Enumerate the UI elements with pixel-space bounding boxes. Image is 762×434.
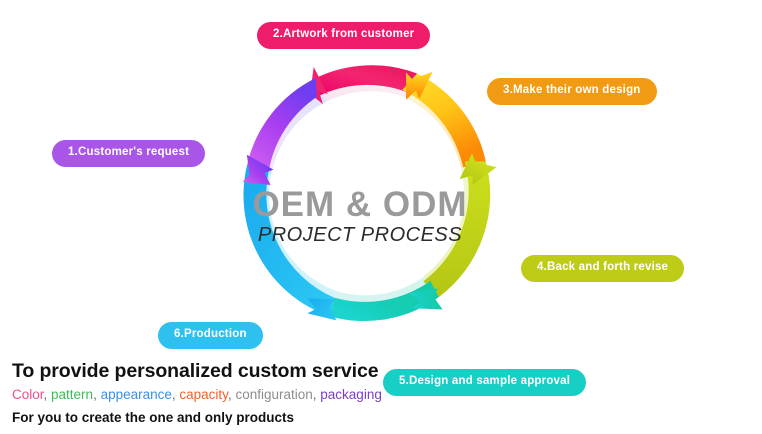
step-label-6[interactable]: 6.Production bbox=[158, 322, 263, 349]
ring-segment-6[interactable] bbox=[243, 165, 339, 326]
feature-word: pattern bbox=[51, 387, 93, 402]
step-label-1[interactable]: 1.Customer's request bbox=[52, 140, 205, 167]
feature-word: packaging bbox=[320, 387, 382, 402]
feature-list: Color, pattern, appearance, capacity, co… bbox=[12, 387, 412, 403]
step-label-5[interactable]: 5.Design and sample approval bbox=[383, 369, 586, 396]
step-label-4[interactable]: 4.Back and forth revise bbox=[521, 255, 684, 282]
ring-segment-1[interactable] bbox=[238, 78, 316, 190]
tagline-main: To provide personalized custom service bbox=[12, 359, 412, 383]
infographic-canvas: OEM & ODM PROJECT PROCESS 1.Customer's r… bbox=[0, 0, 762, 434]
feature-word: appearance bbox=[101, 387, 172, 402]
step-label-2[interactable]: 2.Artwork from customer bbox=[257, 22, 430, 49]
step-label-3[interactable]: 3.Make their own design bbox=[487, 78, 657, 105]
ring-segment-3[interactable] bbox=[394, 60, 486, 168]
feature-word: configuration bbox=[235, 387, 312, 402]
feature-word: Color bbox=[12, 387, 44, 402]
feature-word: capacity bbox=[179, 387, 228, 402]
feature-separator: , bbox=[93, 387, 101, 402]
tagline-sub: For you to create the one and only produ… bbox=[12, 410, 412, 425]
feature-separator: , bbox=[44, 387, 52, 402]
bottom-copy-block: To provide personalized custom service C… bbox=[12, 359, 412, 425]
ring-outer-arrows bbox=[195, 38, 497, 326]
